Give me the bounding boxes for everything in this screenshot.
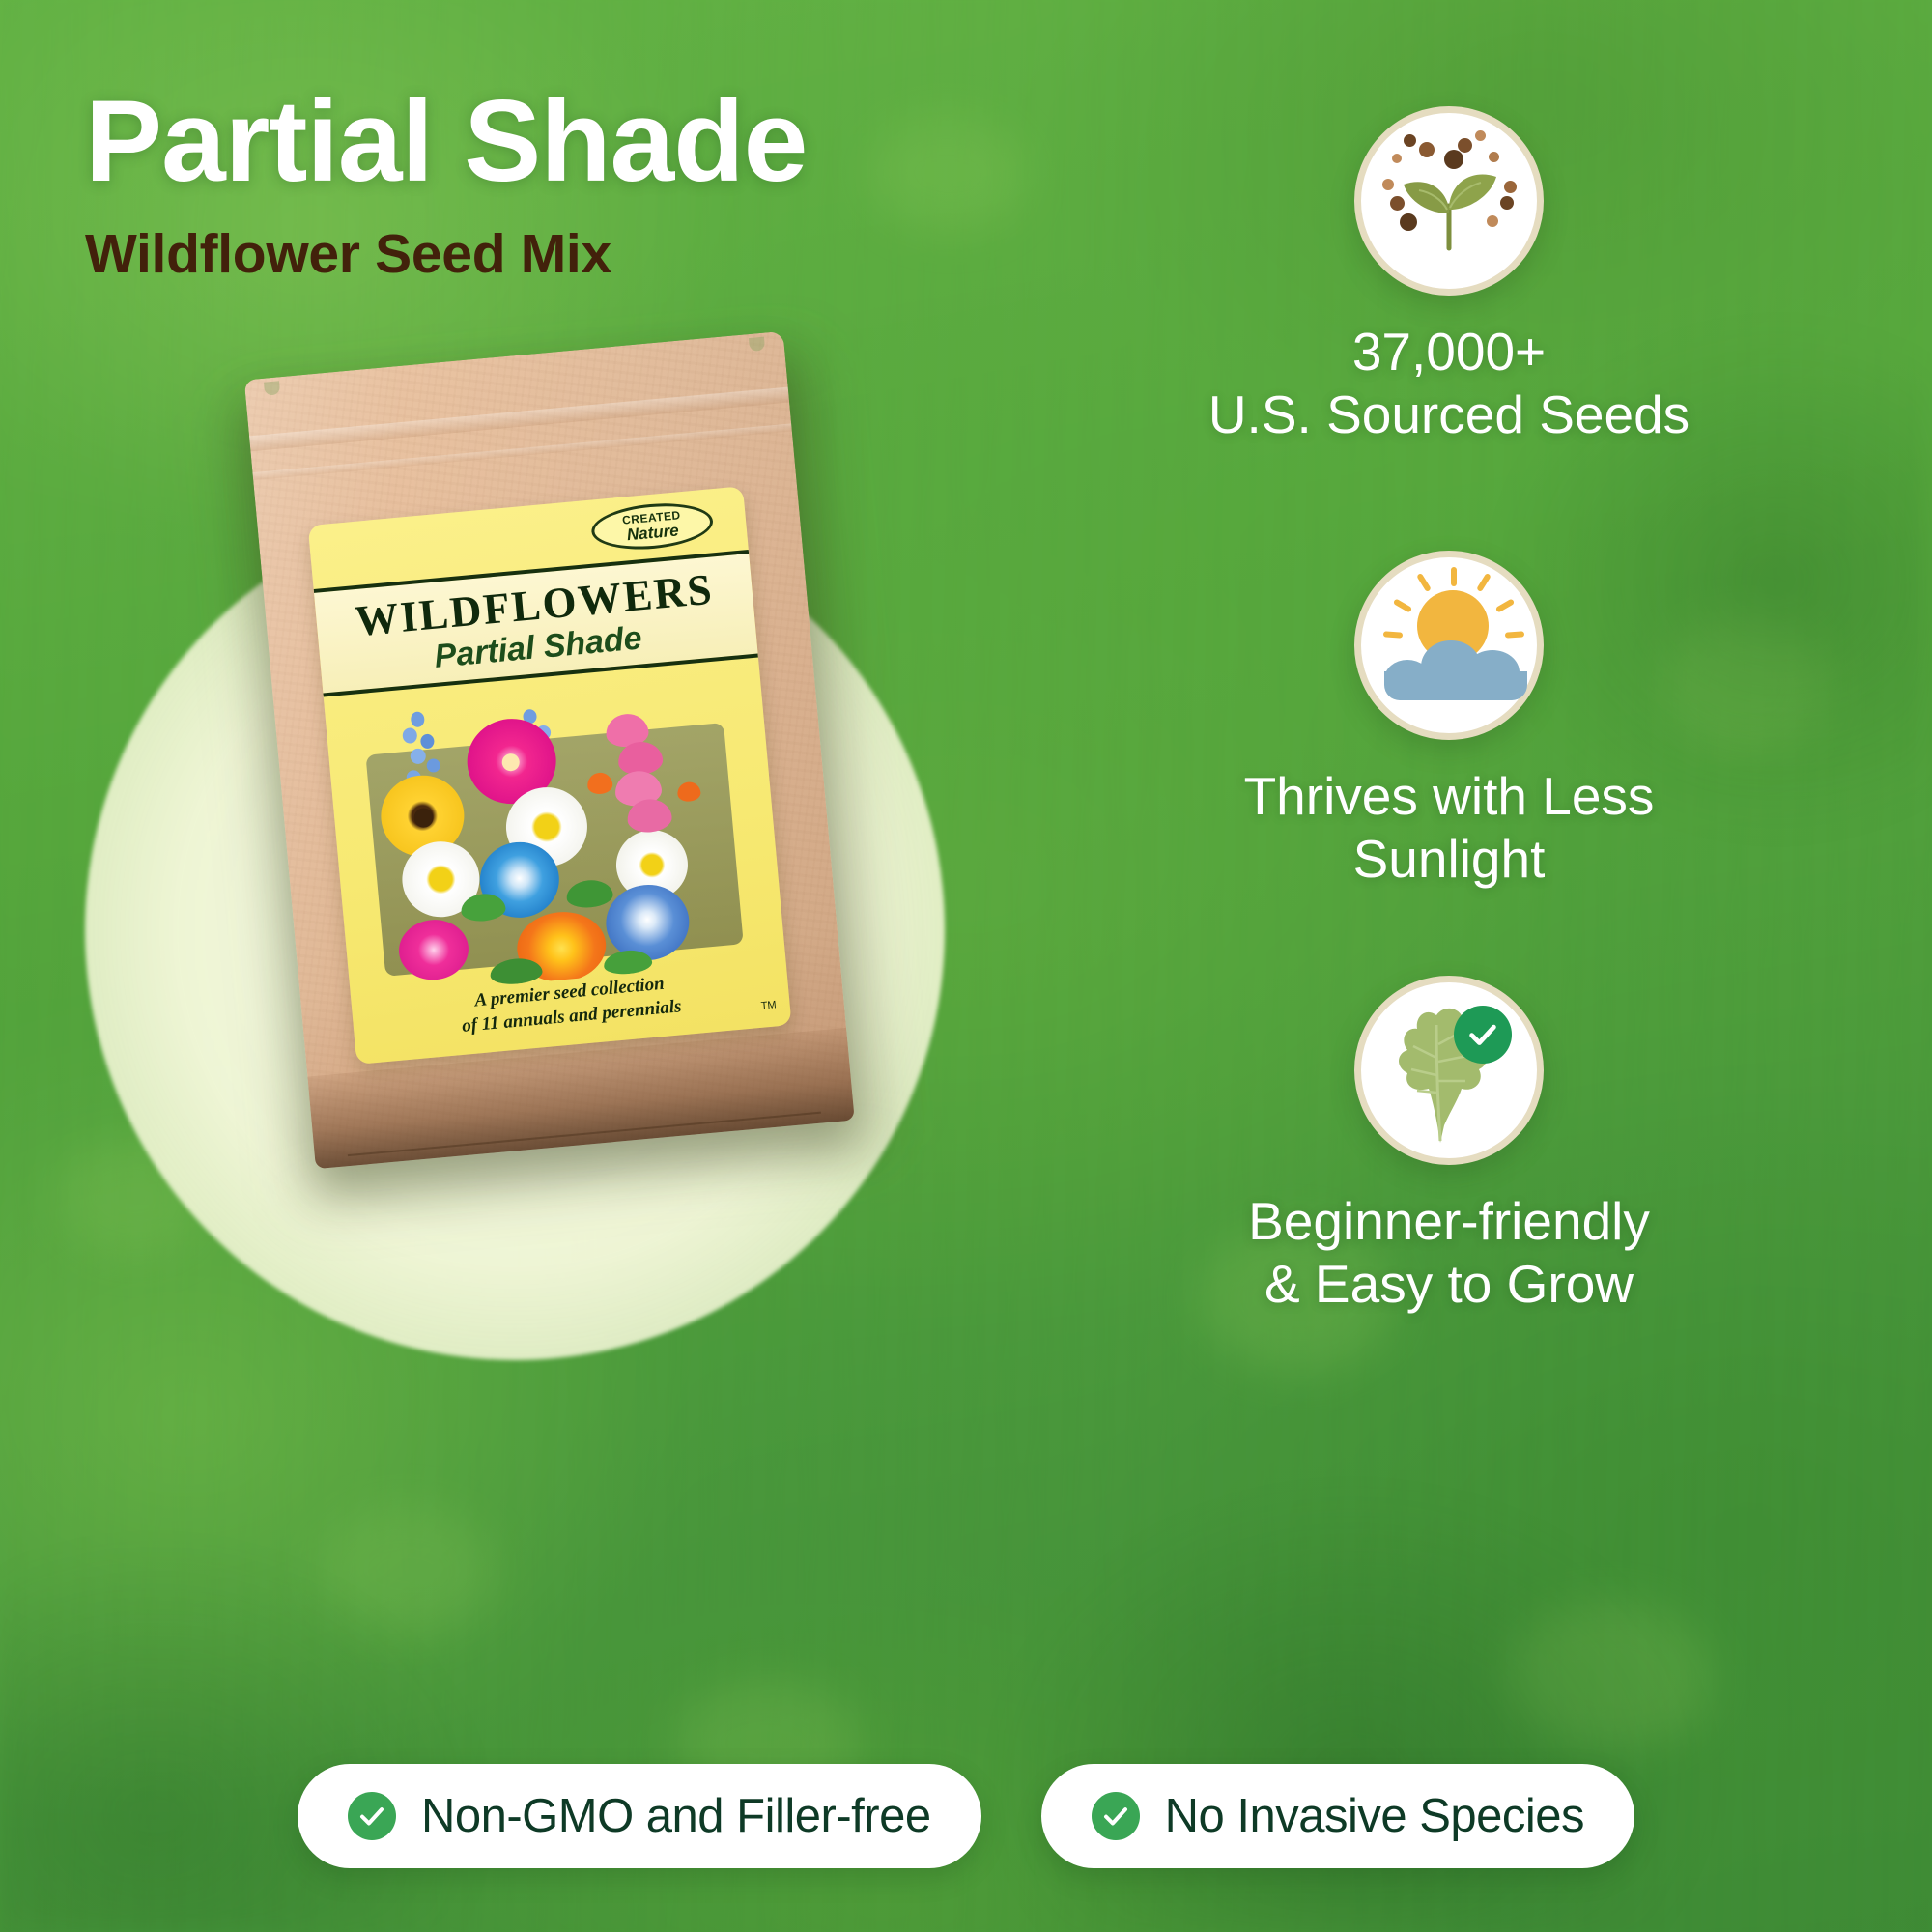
seed-packet: CREATED Nature WILDFLOWERS Partial Shade xyxy=(204,311,906,1214)
page-title: Partial Shade xyxy=(85,83,983,199)
check-badge xyxy=(1454,1006,1512,1064)
feature-sunlight-line-2: Sunlight xyxy=(985,828,1913,891)
packet-label: CREATED Nature WILDFLOWERS Partial Shade xyxy=(308,486,792,1065)
packet-kraft-pouch: CREATED Nature WILDFLOWERS Partial Shade xyxy=(244,331,855,1169)
brand-script: Nature xyxy=(626,522,679,543)
page-subtitle: Wildflower Seed Mix xyxy=(85,224,983,285)
trademark-mark: TM xyxy=(760,999,777,1011)
feature-beginner-text: Beginner-friendly & Easy to Grow xyxy=(985,1190,1913,1316)
badge-no-invasive[interactable]: No Invasive Species xyxy=(1041,1764,1634,1868)
packet-seam-top xyxy=(249,387,789,452)
header-block: Partial Shade Wildflower Seed Mix xyxy=(85,83,983,285)
badge-no-invasive-label: No Invasive Species xyxy=(1165,1789,1584,1843)
bottom-badge-row: Non-GMO and Filler-free No Invasive Spec… xyxy=(0,1764,1932,1868)
packet-notch-left xyxy=(264,381,280,395)
check-circle-icon xyxy=(1092,1792,1140,1840)
label-title-band: WILDFLOWERS Partial Shade xyxy=(314,550,758,697)
feature-seeds: 37,000+ U.S. Sourced Seeds xyxy=(985,106,1913,446)
feature-sunlight-line-1: Thrives with Less xyxy=(985,765,1913,828)
leaf-check-icon xyxy=(1354,976,1544,1165)
feature-sunlight: Thrives with Less Sunlight xyxy=(985,551,1913,891)
cloud-shape xyxy=(1384,640,1527,700)
feature-beginner-line-1: Beginner-friendly xyxy=(985,1190,1913,1253)
badge-non-gmo-label: Non-GMO and Filler-free xyxy=(421,1789,931,1843)
seed-sprout-icon xyxy=(1354,106,1544,296)
label-flower-photo xyxy=(350,677,760,997)
feature-seeds-line-2: U.S. Sourced Seeds xyxy=(985,384,1913,446)
feature-beginner-line-2: & Easy to Grow xyxy=(985,1253,1913,1316)
feature-seeds-line-1: 37,000+ xyxy=(985,321,1913,384)
feature-seeds-text: 37,000+ U.S. Sourced Seeds xyxy=(985,321,1913,446)
feature-sunlight-text: Thrives with Less Sunlight xyxy=(985,765,1913,891)
feature-beginner: Beginner-friendly & Easy to Grow xyxy=(985,976,1913,1316)
created-by-nature-logo: CREATED Nature xyxy=(589,498,715,554)
check-circle-icon xyxy=(348,1792,396,1840)
packet-notch-right xyxy=(749,337,765,352)
sun-behind-cloud-icon xyxy=(1354,551,1544,740)
badge-non-gmo[interactable]: Non-GMO and Filler-free xyxy=(298,1764,981,1868)
